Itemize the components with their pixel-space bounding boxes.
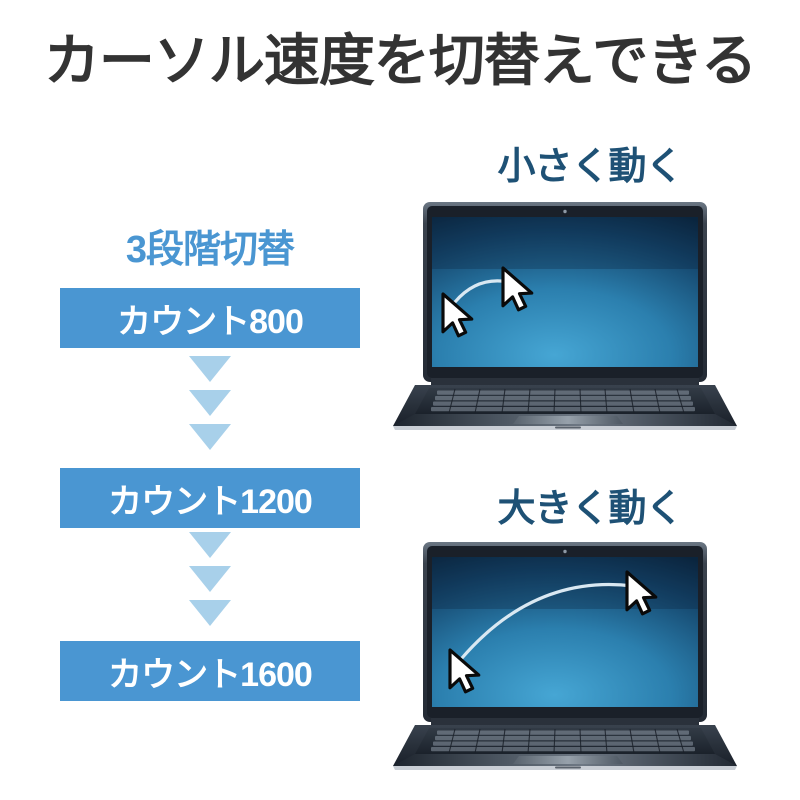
count-box-1600: カウント1600: [60, 641, 360, 701]
laptop-hinge: [431, 718, 699, 725]
laptop-hinge: [431, 378, 699, 385]
motion-label-large: 大きく動く: [380, 477, 800, 532]
latch-indicator: [555, 767, 581, 769]
chevron-down-icon: [189, 356, 231, 382]
page-title: カーソル速度を切替えできる: [0, 30, 800, 92]
count-box-label: カウント1200: [108, 474, 312, 523]
count-box-label: カウント1600: [108, 647, 312, 696]
steps-heading: 3段階切替: [60, 218, 360, 273]
latch-indicator: [555, 427, 581, 429]
chevron-down-icon: [189, 600, 231, 626]
webcam-icon: [563, 550, 566, 553]
infographic-canvas: カーソル速度を切替えできる 3段階切替 カウント800 カウント1200 カウン…: [0, 0, 800, 800]
webcam-icon: [563, 210, 566, 213]
chevron-down-icon: [189, 424, 231, 450]
chevron-down-icon: [189, 566, 231, 592]
count-box-1200: カウント1200: [60, 468, 360, 528]
laptop-trackpad: [513, 756, 623, 764]
chevron-down-icon: [189, 532, 231, 558]
count-box-label: カウント800: [117, 294, 303, 343]
laptop-illustration-large-motion: [385, 530, 745, 780]
chevron-down-icon: [189, 390, 231, 416]
screen-sheen: [432, 217, 698, 269]
arrow-group-2: [0, 532, 420, 634]
laptop-illustration-small-motion: [385, 190, 745, 440]
motion-label-small: 小さく動く: [380, 135, 800, 190]
arrow-group-1: [0, 356, 420, 458]
count-box-800: カウント800: [60, 288, 360, 348]
screen-sheen: [432, 557, 698, 609]
laptop-trackpad: [513, 416, 623, 424]
